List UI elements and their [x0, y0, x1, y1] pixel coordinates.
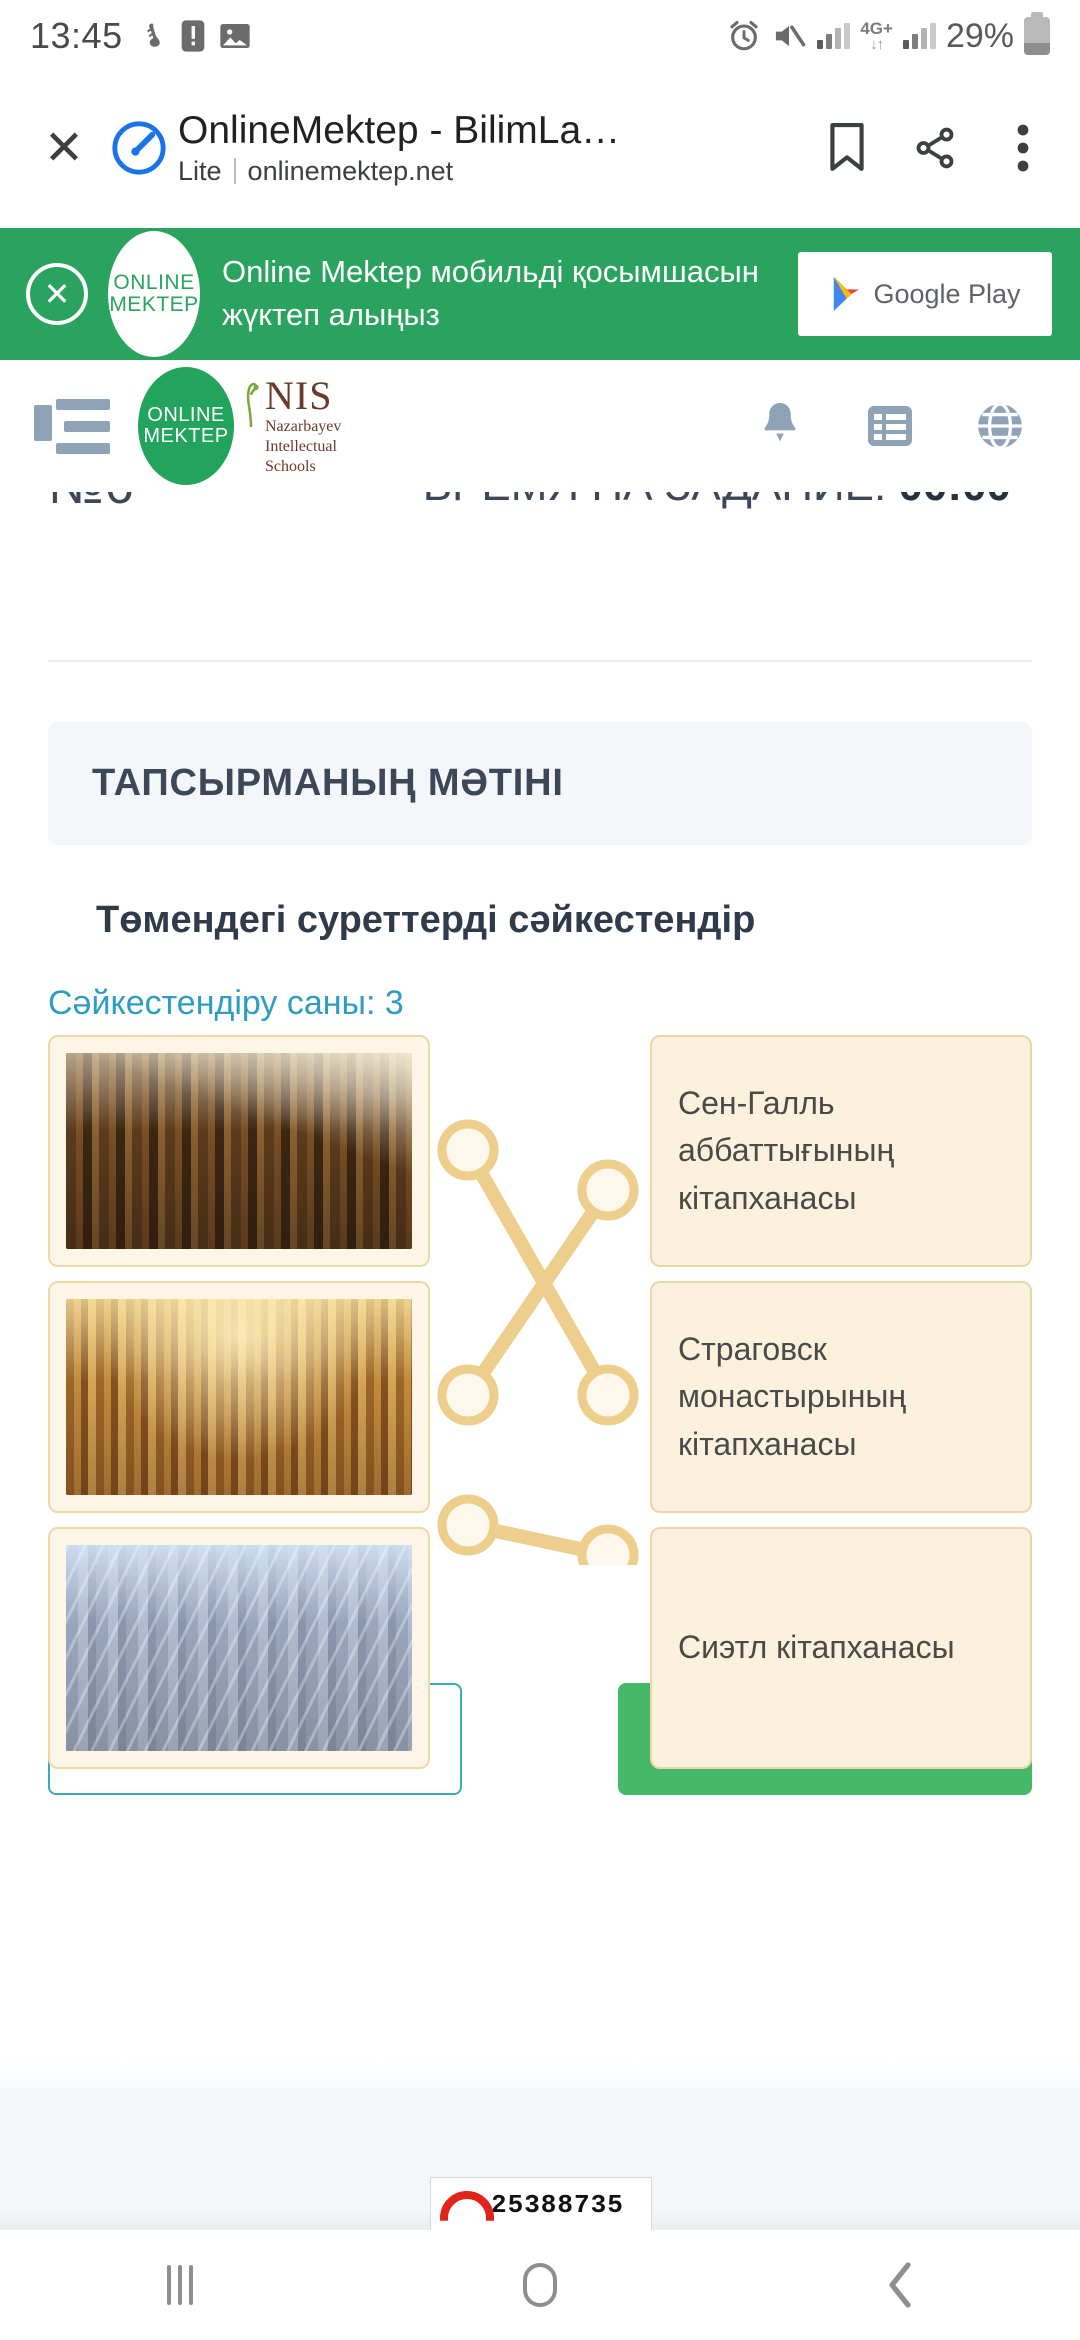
lite-mode-label: Lite — [178, 156, 222, 187]
recents-icon[interactable] — [120, 2230, 240, 2340]
close-icon[interactable]: ✕ — [26, 263, 88, 325]
library-photo-ornate-baroque — [66, 1053, 412, 1249]
android-nav-bar — [0, 2230, 1080, 2340]
nis-leaf-icon — [240, 381, 262, 427]
task-text-header: ТАПСЫРМАНЫҢ МӘТІНІ — [48, 722, 1032, 845]
volume-muted-icon — [771, 20, 807, 52]
browser-toolbar: ✕ OnlineMektep - BilimLa… Lite onlinemek… — [0, 72, 1080, 224]
task-prompt: Төмендегі суреттерді сәйкестендір — [96, 899, 1032, 942]
question-timer: ВРЕМЯ НА ЗАДАНИЕ: 00:00 — [423, 492, 1011, 515]
matching-right-item-0[interactable]: Сен-Галль аббаттығының кітапханасы — [650, 1035, 1032, 1267]
subtitle-divider — [234, 158, 236, 184]
site-logo-line2: MEKTEP — [143, 426, 228, 447]
exclamation-icon — [181, 19, 205, 53]
page-url: onlinemektep.net — [248, 156, 454, 187]
nis-title: NIS — [265, 375, 341, 417]
matching-widget[interactable]: Сен-Галль аббаттығының кітапханасы Страг… — [48, 1035, 1032, 1565]
nis-sub1: Nazarbayev — [265, 417, 341, 437]
counter-value: 25388735 — [491, 2190, 624, 2220]
browser-actions — [804, 117, 1054, 179]
image-icon — [219, 20, 251, 52]
connector-dot-right-1 — [582, 1369, 634, 1421]
matching-left-column — [48, 1035, 430, 1783]
connector-dot-right-2 — [582, 1529, 634, 1565]
header-divider — [48, 660, 1032, 662]
share-icon[interactable] — [904, 117, 966, 179]
question-number: №6 — [48, 492, 135, 516]
do-not-disturb-icon — [137, 19, 167, 53]
phone-screen: 13:45 4G+ ↓↑ 29% — [0, 0, 1080, 2340]
connector-dot-left-2 — [442, 1499, 494, 1551]
matching-right-item-2[interactable]: Сиэтл кітапханасы — [650, 1527, 1032, 1769]
ad-text: Online Mektep мобильді қосымшасын жүктеп… — [222, 251, 798, 337]
battery-icon — [1024, 17, 1050, 55]
ad-logo-line2: MEKTEP — [109, 294, 198, 316]
question-header: №6 ВРЕМЯ НА ЗАДАНИЕ: 00:00 — [0, 492, 1080, 660]
bookmark-icon[interactable] — [816, 117, 878, 179]
online-mektep-logo[interactable]: ONLINE MEKTEP — [138, 367, 234, 485]
status-bar-left: 13:45 — [30, 15, 251, 57]
status-time: 13:45 — [30, 15, 123, 57]
connector-line-2 — [468, 1525, 608, 1555]
signal-bars-icon-2 — [903, 23, 936, 49]
battery-percent: 29% — [946, 17, 1014, 56]
browser-title-block[interactable]: OnlineMektep - BilimLa… Lite onlinemekte… — [178, 109, 804, 187]
ad-logo-line1: ONLINE — [113, 272, 194, 294]
online-mektep-ad-logo: ONLINE MEKTEP — [108, 231, 200, 357]
site-favicon — [110, 119, 168, 177]
nis-logo: NIS Nazarbayev Intellectual Schools — [240, 375, 341, 477]
app-promo-banner[interactable]: ✕ ONLINE MEKTEP Online Mektep мобильді қ… — [0, 228, 1080, 360]
status-bar-right: 4G+ ↓↑ 29% — [727, 17, 1050, 56]
nis-sub2: Intellectual — [265, 437, 341, 457]
matching-right-label-2: Сиэтл кітапханасы — [678, 1624, 955, 1671]
match-count-label: Сәйкестендіру саны: 3 — [48, 984, 1032, 1023]
timer-label: ВРЕМЯ НА ЗАДАНИЕ: — [423, 492, 887, 510]
close-tab-button[interactable]: ✕ — [26, 110, 102, 186]
matching-left-item-2[interactable] — [48, 1527, 430, 1769]
visitor-counter[interactable]: 25388735 — [430, 2177, 652, 2233]
connector-dot-right-0 — [582, 1164, 634, 1216]
matching-right-label-0: Сен-Галль аббаттығының кітапханасы — [678, 1080, 1004, 1222]
site-logo-line1: ONLINE — [147, 405, 224, 426]
alarm-icon — [727, 19, 761, 53]
list-icon[interactable] — [864, 400, 916, 452]
home-icon[interactable] — [480, 2230, 600, 2340]
matching-right-column: Сен-Галль аббаттығының кітапханасы Страг… — [650, 1035, 1032, 1783]
nis-sub3: Schools — [265, 457, 341, 477]
connector-dot-left-0 — [442, 1124, 494, 1176]
nis-text-block: NIS Nazarbayev Intellectual Schools — [265, 375, 341, 477]
signal-bars-icon-1 — [817, 23, 850, 49]
matching-right-label-1: Страговск монастырының кітапханасы — [678, 1326, 1004, 1468]
menu-collapse-icon[interactable] — [34, 397, 110, 455]
connector-dot-left-1 — [442, 1369, 494, 1421]
bell-icon[interactable] — [754, 400, 806, 452]
matching-right-item-1[interactable]: Страговск монастырының кітапханасы — [650, 1281, 1032, 1513]
task-section-title: ТАПСЫРМАНЫҢ МӘТІНІ — [92, 762, 988, 805]
google-play-icon — [829, 275, 863, 313]
browser-subtitle: Lite onlinemektep.net — [178, 156, 804, 187]
connector-line-0 — [468, 1150, 608, 1395]
globe-icon[interactable] — [974, 400, 1026, 452]
library-photo-frescoed-hall — [66, 1299, 412, 1495]
back-chevron-icon[interactable] — [840, 2230, 960, 2340]
matching-left-item-0[interactable] — [48, 1035, 430, 1267]
library-photo-modern-stacks — [66, 1545, 412, 1751]
page-title: OnlineMektep - BilimLa… — [178, 109, 804, 154]
network-type-icon: 4G+ ↓↑ — [860, 20, 893, 52]
site-header: ONLINE MEKTEP NIS Nazarbayev Intellectua… — [0, 360, 1080, 492]
connector-line-1 — [468, 1190, 608, 1395]
page-content: №6 ВРЕМЯ НА ЗАДАНИЕ: 00:00 ТАПСЫРМАНЫҢ М… — [0, 492, 1080, 2060]
timer-value: 00:00 — [898, 492, 1011, 510]
header-icons — [754, 400, 1046, 452]
liveinternet-icon — [431, 2177, 487, 2233]
more-vertical-icon[interactable] — [992, 117, 1054, 179]
matching-left-item-1[interactable] — [48, 1281, 430, 1513]
google-play-button[interactable]: Google Play — [798, 252, 1052, 336]
status-bar: 13:45 4G+ ↓↑ 29% — [0, 0, 1080, 72]
google-play-label: Google Play — [873, 279, 1020, 310]
